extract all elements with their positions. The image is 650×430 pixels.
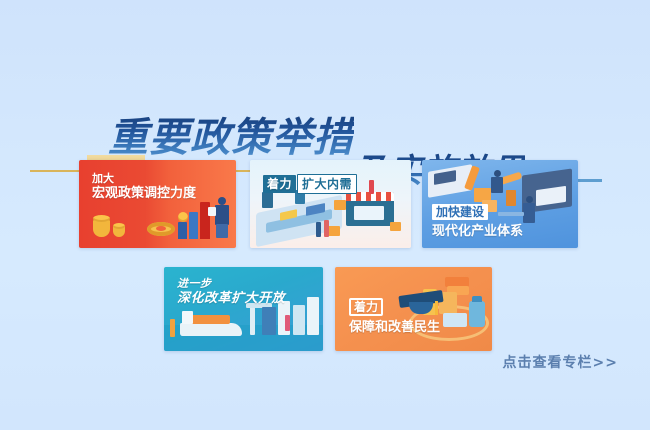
dock-building-3	[293, 305, 305, 335]
operator-head	[526, 196, 533, 203]
card-industrial-system-line2: 现代化产业体系	[432, 224, 523, 239]
worker-body	[491, 177, 503, 193]
person-legs	[216, 224, 228, 238]
card-deepen-reform-line2: 深化改革扩大开放	[177, 291, 285, 306]
coin-on-bars	[178, 212, 188, 222]
card-peoples-wellbeing-line1-wrap: 着力	[349, 297, 440, 316]
bar-chart-icon	[178, 222, 187, 239]
bollard	[170, 319, 175, 337]
card-deepen-reform[interactable]: 进一步 深化改革扩大开放	[164, 267, 323, 351]
donut-hole	[156, 226, 166, 231]
medicine-icon	[443, 313, 467, 327]
dock-worker	[285, 315, 290, 331]
card-macro-policy-text: 加大 宏观政策调控力度	[92, 173, 196, 201]
title-block: 重要政策举措 及实施效果	[0, 56, 650, 146]
card-deepen-reform-line1: 进一步	[177, 278, 285, 291]
worker-head	[494, 170, 501, 177]
card-domestic-demand[interactable]: 着力 扩大内需	[250, 160, 411, 248]
billboard-shape	[262, 192, 273, 208]
medicine-bottle	[469, 301, 485, 327]
coin-stack-top	[93, 215, 110, 222]
dock-building-1	[262, 307, 276, 335]
card-peoples-wellbeing-line1: 着力	[349, 298, 383, 316]
card-macro-policy-line2: 宏观政策调控力度	[92, 186, 196, 201]
card-peoples-wellbeing[interactable]: 着力 保障和改善民生	[335, 267, 492, 351]
person-icon	[218, 197, 226, 205]
person-clipboard	[208, 207, 216, 216]
cards-row-1: 加大 宏观政策调控力度	[0, 160, 650, 248]
cargo-ship-icon	[180, 323, 242, 336]
parcel-3	[390, 222, 401, 231]
pedestrian-2	[324, 220, 329, 237]
store-window	[354, 206, 384, 220]
parcel-2	[328, 226, 340, 236]
view-column-link[interactable]: 点击查看专栏>>	[503, 352, 618, 372]
card-domestic-demand-line1: 着力	[263, 175, 296, 193]
page-title-main: 重要政策举措	[108, 114, 354, 162]
card-industrial-system-text: 加快建设 现代化产业体系	[432, 202, 523, 239]
pedestrian-3	[369, 180, 374, 194]
cards-row-2: 进一步 深化改革扩大开放 着力	[0, 267, 650, 351]
coin-small-top	[113, 223, 125, 229]
parcel-1	[334, 200, 346, 210]
card-domestic-demand-line2: 扩大内需	[297, 174, 357, 194]
card-industrial-system-line1: 加快建设	[432, 204, 488, 220]
pedestrian-1	[316, 222, 321, 237]
card-peoples-wellbeing-text: 着力 保障和改善民生	[349, 297, 440, 335]
dock-building-4	[307, 297, 319, 335]
poster-canvas: 重要政策举措 及实施效果	[0, 0, 650, 430]
operator-body	[523, 203, 535, 223]
card-industrial-system-line1-wrap: 加快建设	[432, 202, 523, 221]
coin-stack-body	[93, 221, 110, 237]
card-peoples-wellbeing-line2: 保障和改善民生	[349, 320, 440, 335]
ship-bridge	[182, 311, 193, 324]
card-macro-policy-line1: 加大	[92, 173, 196, 186]
medicine-bottle-cap	[472, 296, 482, 302]
bar-chart-bar-2	[189, 212, 198, 239]
card-macro-policy[interactable]: 加大 宏观政策调控力度	[79, 160, 236, 248]
card-deepen-reform-text: 进一步 深化改革扩大开放	[177, 278, 285, 306]
ship-cargo	[190, 315, 230, 324]
card-domestic-demand-text: 着力 扩大内需	[263, 174, 357, 194]
card-industrial-system[interactable]: 加快建设 现代化产业体系	[422, 160, 578, 248]
person-body	[215, 205, 229, 225]
